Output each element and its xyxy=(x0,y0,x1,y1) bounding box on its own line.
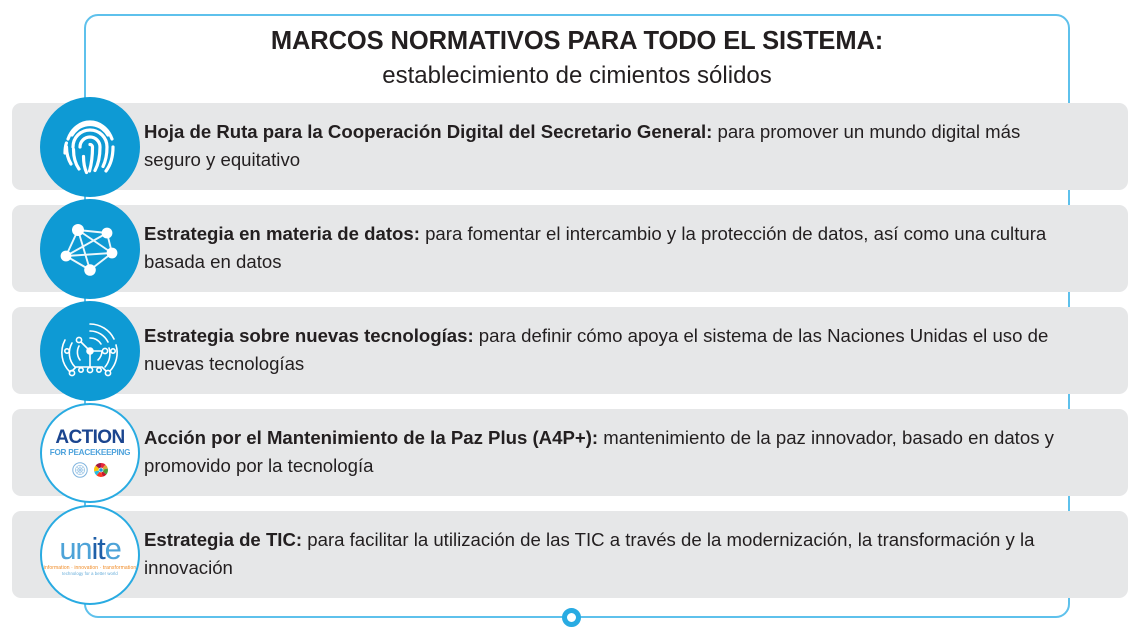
row-icon xyxy=(40,97,140,197)
list-item: Estrategia sobre nuevas tecnologías: par… xyxy=(0,307,1140,394)
unite-logo: unite information · innovation · transfo… xyxy=(40,505,140,605)
row-text: Estrategia de TIC: para facilitar la uti… xyxy=(144,526,1074,583)
unite-word-e: e xyxy=(105,531,121,566)
row-icon xyxy=(40,199,140,299)
row-text: Hoja de Ruta para la Cooperación Digital… xyxy=(144,118,1074,175)
network-nodes-icon xyxy=(40,199,140,299)
unite-word-un: un xyxy=(59,531,91,566)
row-icon: ACTION FOR PEACEKEEPING xyxy=(40,403,140,503)
row-text: Acción por el Mantenimiento de la Paz Pl… xyxy=(144,424,1074,481)
a4p-action-label: ACTION xyxy=(55,428,124,447)
a4p-subtitle-label: FOR PEACEKEEPING xyxy=(50,449,131,457)
list-item: unite information · innovation · transfo… xyxy=(0,511,1140,598)
list-item: Estrategia en materia de datos: para fom… xyxy=(0,205,1140,292)
row-bold-label: Estrategia sobre nuevas tecnologías: xyxy=(144,325,474,346)
framework-list: Hoja de Ruta para la Cooperación Digital… xyxy=(0,103,1140,613)
page-subtitle: establecimiento de cimientos sólidos xyxy=(120,60,1034,91)
row-icon: unite information · innovation · transfo… xyxy=(40,505,140,605)
row-text: Estrategia sobre nuevas tecnologías: par… xyxy=(144,322,1074,379)
header: MARCOS NORMATIVOS PARA TODO EL SISTEMA: … xyxy=(120,26,1034,91)
row-icon xyxy=(40,301,140,401)
row-bold-label: Hoja de Ruta para la Cooperación Digital… xyxy=(144,121,712,142)
list-item: ACTION FOR PEACEKEEPING xyxy=(0,409,1140,496)
infographic-root: MARCOS NORMATIVOS PARA TODO EL SISTEMA: … xyxy=(0,0,1140,641)
frame-bottom-dot xyxy=(562,608,581,627)
circuit-technology-icon xyxy=(40,301,140,401)
list-item: Hoja de Ruta para la Cooperación Digital… xyxy=(0,103,1140,190)
a4p-emblems xyxy=(72,462,109,478)
row-bold-label: Acción por el Mantenimiento de la Paz Pl… xyxy=(144,427,598,448)
fingerprint-icon xyxy=(40,97,140,197)
page-title: MARCOS NORMATIVOS PARA TODO EL SISTEMA: xyxy=(120,26,1034,58)
row-bold-label: Estrategia de TIC: xyxy=(144,529,302,550)
sdg-wheel-icon xyxy=(93,462,109,478)
row-text: Estrategia en materia de datos: para fom… xyxy=(144,220,1074,277)
un-emblem-icon xyxy=(72,462,88,478)
row-bold-label: Estrategia en materia de datos: xyxy=(144,223,420,244)
unite-tagline-secondary: technology for a better world xyxy=(62,571,118,576)
action-for-peacekeeping-logo: ACTION FOR PEACEKEEPING xyxy=(40,403,140,503)
unite-wordmark: unite xyxy=(59,534,120,563)
unite-word-it: it xyxy=(91,531,104,566)
